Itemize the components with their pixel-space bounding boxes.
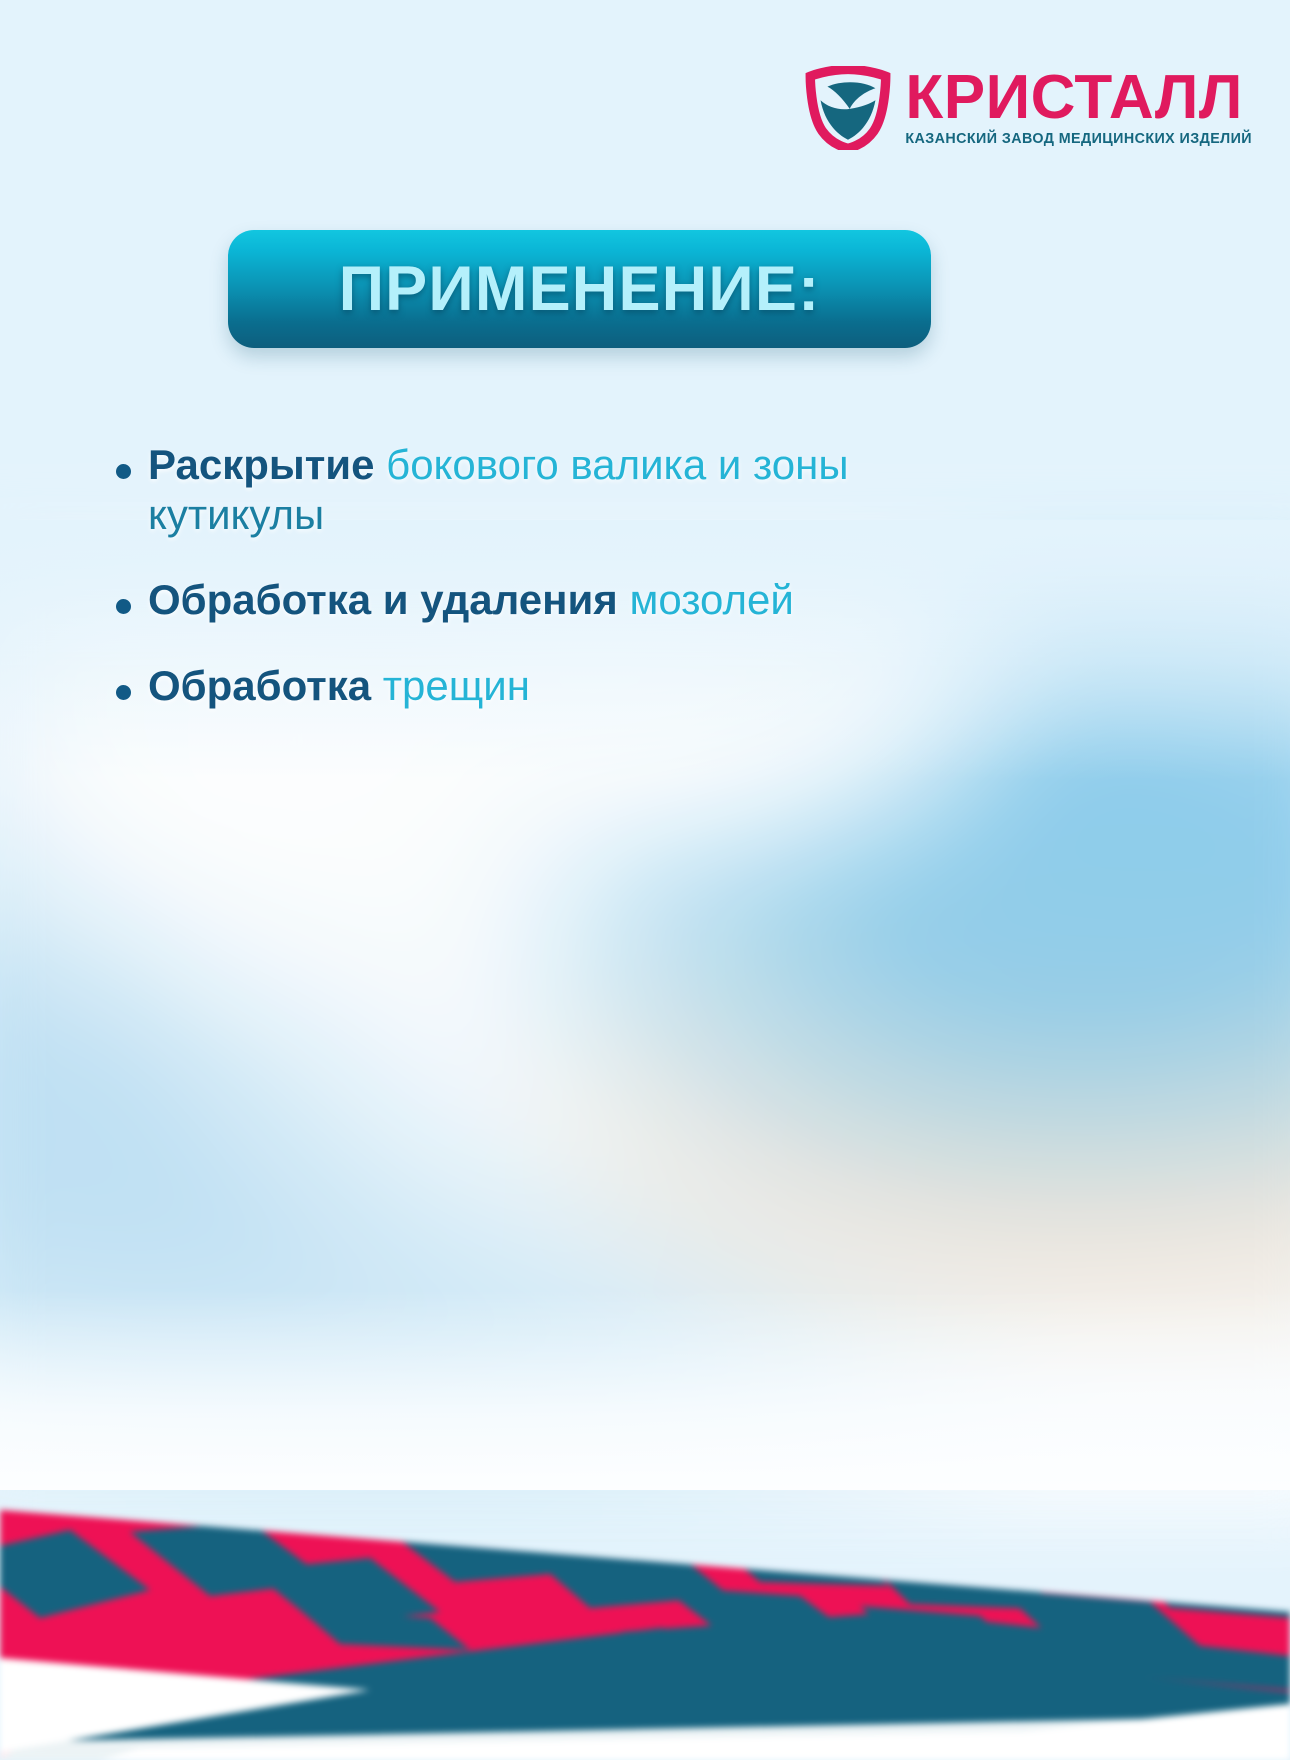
page-title: ПРИМЕНЕНИЕ: bbox=[339, 253, 821, 325]
list-item-text: Раскрытие бокового валика и зоны кутикул… bbox=[148, 440, 849, 539]
list-item-text: Обработка и удаления мозолей bbox=[148, 575, 794, 625]
brand-logo: КРИСТАЛЛ КАЗАНСКИЙ ЗАВОД МЕДИЦИНСКИХ ИЗД… bbox=[805, 66, 1252, 150]
heading-banner: ПРИМЕНЕНИЕ: bbox=[228, 230, 931, 348]
list-item-rest: трещин bbox=[371, 662, 530, 709]
bullet-dot-icon bbox=[116, 685, 131, 700]
application-list: Раскрытие бокового валика и зоны кутикул… bbox=[116, 440, 1116, 746]
list-item-emphasis: Раскрытие bbox=[148, 441, 374, 488]
list-item: Обработка трещин bbox=[116, 661, 1116, 711]
logo-wordmark: КРИСТАЛЛ bbox=[905, 69, 1252, 126]
list-item: Раскрытие бокового валика и зоны кутикул… bbox=[116, 440, 1116, 539]
logo-tagline: КАЗАНСКИЙ ЗАВОД МЕДИЦИНСКИХ ИЗДЕЛИЙ bbox=[905, 131, 1252, 147]
bottom-decoration bbox=[0, 1360, 1290, 1760]
list-item-second-line: кутикулы bbox=[148, 491, 324, 538]
crystal-shield-icon bbox=[805, 66, 891, 150]
bullet-dot-icon bbox=[116, 464, 131, 479]
list-item: Обработка и удаления мозолей bbox=[116, 575, 1116, 625]
list-item-rest: мозолей bbox=[618, 576, 794, 623]
geometric-ribbon-icon bbox=[0, 1360, 1290, 1760]
list-item-emphasis: Обработка bbox=[148, 662, 371, 709]
bullet-dot-icon bbox=[116, 599, 131, 614]
slide: КРИСТАЛЛ КАЗАНСКИЙ ЗАВОД МЕДИЦИНСКИХ ИЗД… bbox=[0, 0, 1290, 1760]
list-item-emphasis: Обработка и удаления bbox=[148, 576, 618, 623]
list-item-rest: бокового валика и зоны bbox=[374, 441, 848, 488]
list-item-text: Обработка трещин bbox=[148, 661, 530, 711]
